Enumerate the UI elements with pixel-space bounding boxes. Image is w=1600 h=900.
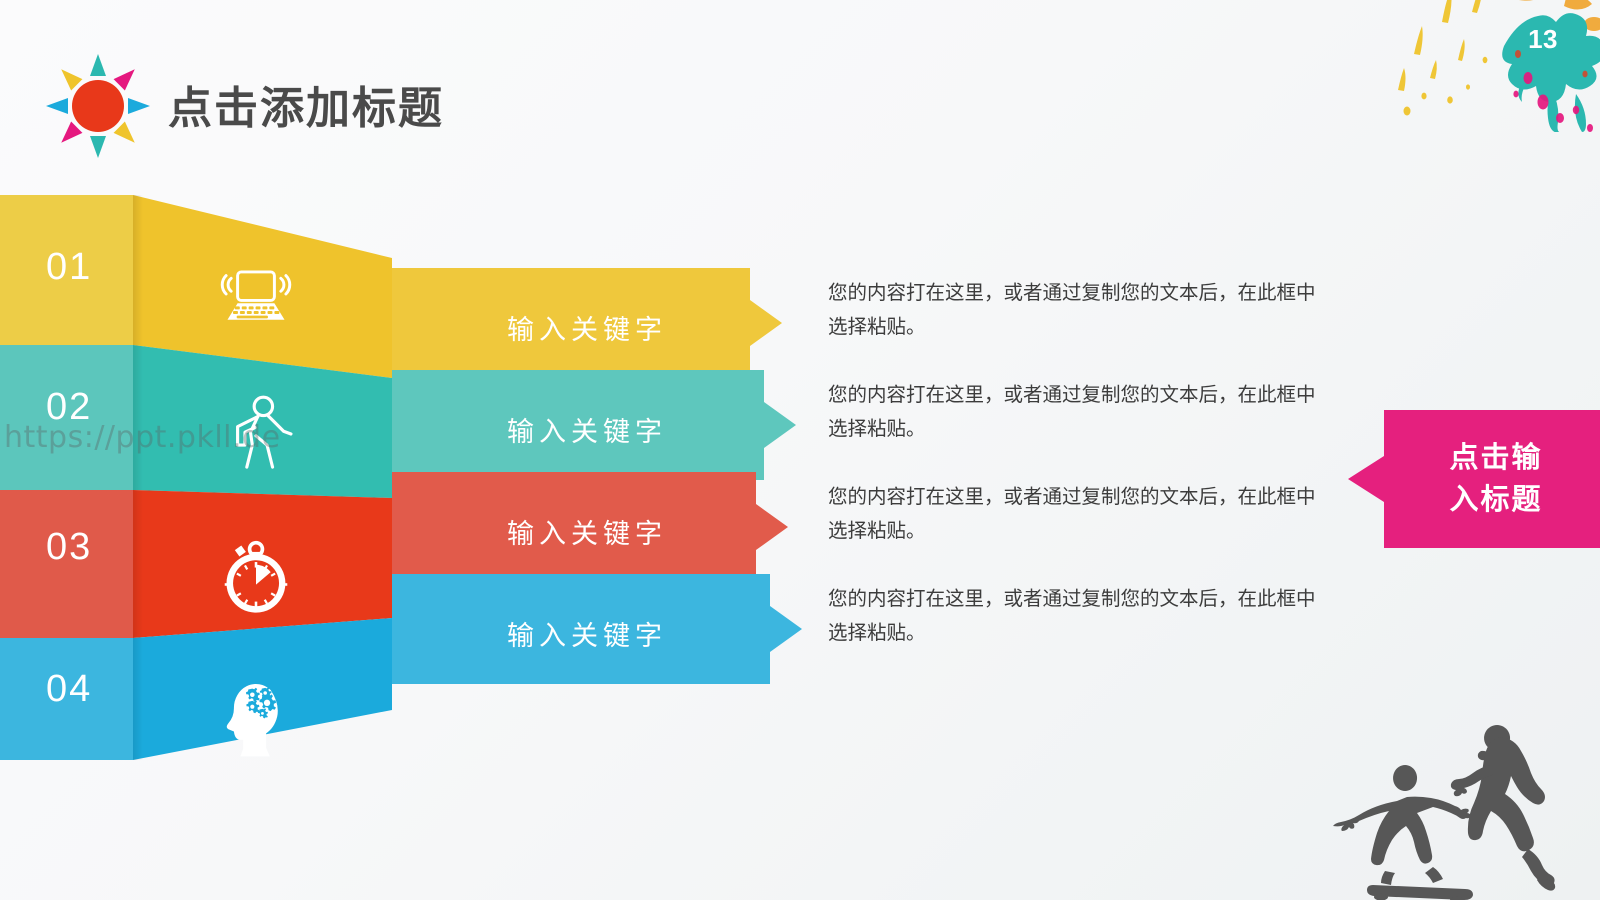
band-number-04: 04: [46, 668, 92, 711]
description-text-03: 您的内容打在这里，或者通过复制您的文本后，在此框中选择粘贴。: [828, 480, 1328, 548]
description-text-04: 您的内容打在这里，或者通过复制您的文本后，在此框中选择粘贴。: [828, 582, 1328, 650]
stopwatch-icon: [210, 528, 302, 620]
page-title: 点击添加标题: [168, 72, 444, 136]
walking-person-icon: [210, 388, 302, 480]
paint-splatter-decoration: [1380, 0, 1600, 132]
keyword-label-02: 输入关键字: [507, 410, 667, 449]
band-shapes: [0, 180, 810, 780]
keyword-label-01: 输入关键字: [507, 308, 667, 347]
band-stack: 01 02 03 04: [0, 180, 810, 780]
sun-logo: [38, 52, 158, 160]
page-number: 13: [1528, 24, 1558, 55]
band-number-01: 01: [46, 246, 92, 289]
runner-silhouette: [1451, 725, 1555, 891]
keyword-label-03: 输入关键字: [507, 512, 667, 551]
band-number-03: 03: [46, 526, 92, 569]
callout-title: 点击输 入标题: [1396, 436, 1596, 520]
callout-line-1: 点击输: [1396, 436, 1596, 478]
description-text-02: 您的内容打在这里，或者通过复制您的文本后，在此框中选择粘贴。: [828, 378, 1328, 446]
band-number-02: 02: [46, 386, 92, 429]
laptop-wifi-icon: [210, 248, 302, 340]
athlete-silhouettes: [1285, 695, 1600, 900]
slide-canvas: 13 点击添加标题: [0, 0, 1600, 900]
keyword-label-04: 输入关键字: [507, 614, 667, 653]
skateboarder-silhouette: [1333, 765, 1473, 900]
callout-line-2: 入标题: [1396, 478, 1596, 520]
head-gears-icon: [210, 668, 302, 760]
description-text-01: 您的内容打在这里，或者通过复制您的文本后，在此框中选择粘贴。: [828, 276, 1328, 344]
